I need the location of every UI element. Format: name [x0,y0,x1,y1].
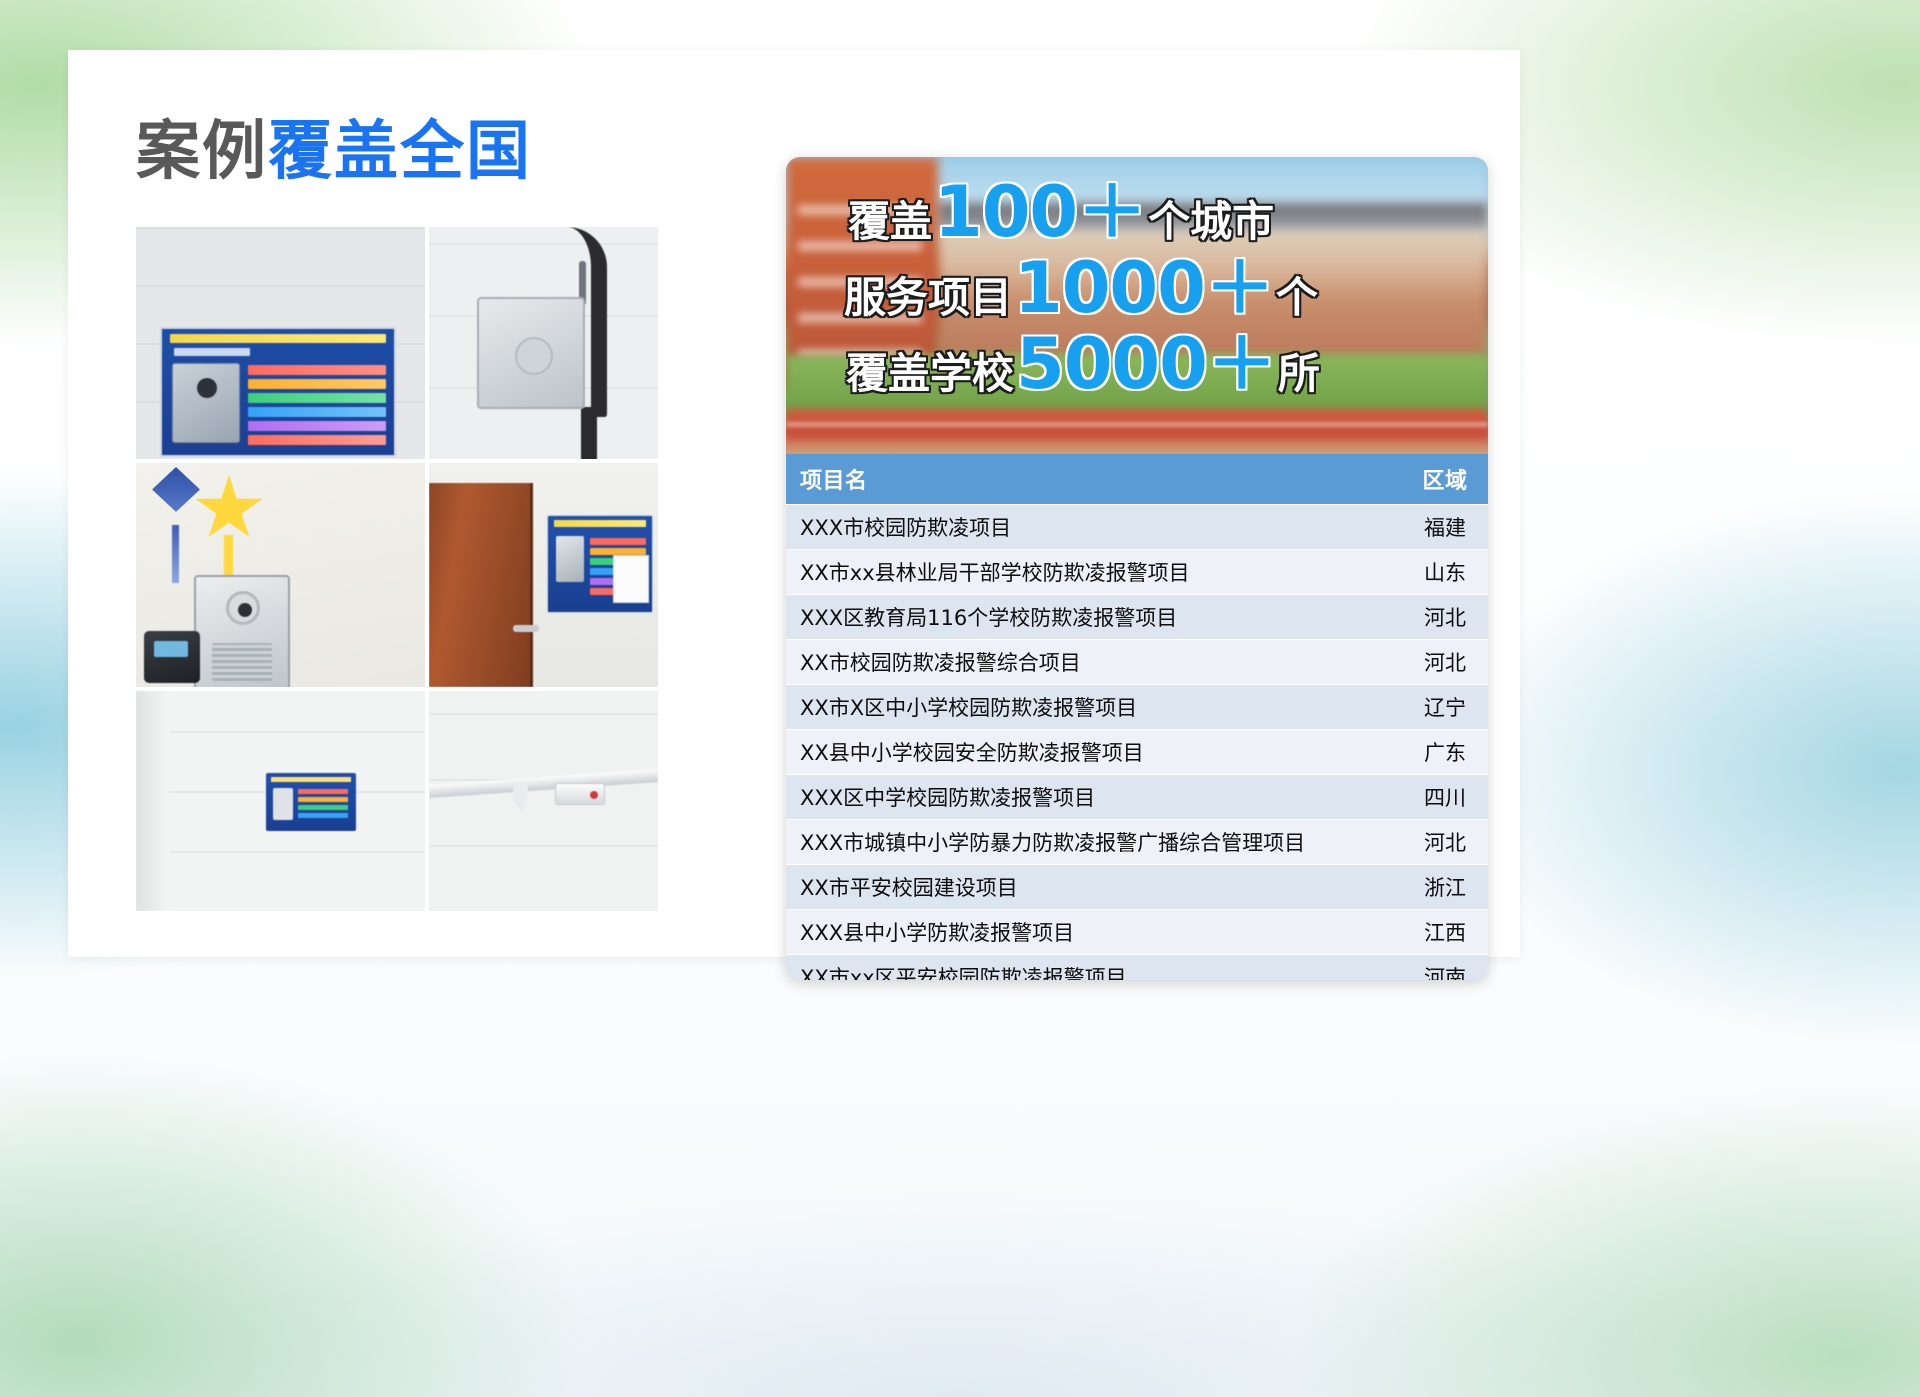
cell-region: 浙江 [1402,865,1488,910]
cell-project-name: XX市校园防欺凌报警综合项目 [786,640,1402,685]
alarm-terminal-icon [194,575,290,687]
stat-schools-number: 5000＋ [1014,327,1278,401]
column-header-region: 区域 [1402,454,1488,505]
cell-project-name: XXX市城镇中小学防暴力防欺凌报警广播综合管理项目 [786,820,1402,865]
corridor-sign-icon [266,773,356,831]
photo-wall-unit-star [136,463,425,687]
cell-region: 福建 [1402,505,1488,550]
photo-door-notice-board [429,463,658,687]
stat-cities-prefix: 覆盖 [848,200,932,245]
page-title: 案例覆盖全国 [136,120,532,184]
stat-line-cities: 覆盖 100＋ 个城市 [848,175,1462,249]
stat-schools-suffix: 所 [1278,352,1320,397]
cell-project-name: XXX县中小学防欺凌报警项目 [786,910,1402,955]
star-icon [194,475,264,543]
cell-region: 河北 [1402,595,1488,640]
photo-wall-box-antenna [429,227,658,459]
coverage-banner: 覆盖 100＋ 个城市 服务项目 1000＋ 个 覆盖学校 5000＋ 所 [786,157,1488,454]
table-header-row: 项目名 区域 [786,454,1488,505]
table-row[interactable]: XX市xx县林业局干部学校防欺凌报警项目山东 [786,550,1488,595]
photo-gallery [136,227,658,907]
slide-card: 案例覆盖全国 [68,50,1520,957]
cell-project-name: XX市平安校园建设项目 [786,865,1402,910]
cell-region: 江西 [1402,910,1488,955]
cell-project-name: XXX区中学校园防欺凌报警项目 [786,775,1402,820]
stat-line-projects: 服务项目 1000＋ 个 [844,251,1462,325]
table-row[interactable]: XXX县中小学防欺凌报警项目江西 [786,910,1488,955]
cell-region: 河南 [1402,955,1488,981]
projects-table-body: XXX市校园防欺凌项目福建 XX市xx县林业局干部学校防欺凌报警项目山东 XXX… [786,505,1488,981]
cell-project-name: XX市xx区平安校园防欺凌报警项目 [786,955,1402,981]
table-row[interactable]: XX市X区中小学校园防欺凌报警项目辽宁 [786,685,1488,730]
page-title-blue: 覆盖全国 [268,115,532,189]
stat-projects-prefix: 服务项目 [844,276,1012,321]
photo-wall-sign-board [136,227,425,459]
tassel-icon [152,467,200,533]
pipe-icon [429,769,658,798]
table-row[interactable]: XX县中小学校园安全防欺凌报警项目广东 [786,730,1488,775]
ceiling-device-icon [555,783,605,805]
stat-cities-suffix: 个城市 [1148,200,1274,245]
cell-project-name: XX市xx县林业局干部学校防欺凌报警项目 [786,550,1402,595]
table-row[interactable]: XX市平安校园建设项目浙江 [786,865,1488,910]
door-icon [429,483,533,687]
table-row[interactable]: XXX区中学校园防欺凌报警项目四川 [786,775,1488,820]
stat-projects-suffix: 个 [1276,276,1318,321]
cell-project-name: XX市X区中小学校园防欺凌报警项目 [786,685,1402,730]
table-row[interactable]: XXX区教育局116个学校防欺凌报警项目河北 [786,595,1488,640]
photo-ceiling-pipe-device [429,691,658,911]
photo-corridor-sign [136,691,425,911]
cell-project-name: XXX市校园防欺凌项目 [786,505,1402,550]
door-handle-icon [513,625,539,632]
anti-bullying-board-icon [160,327,396,457]
cell-project-name: XX县中小学校园安全防欺凌报警项目 [786,730,1402,775]
paper-notice-icon [613,555,649,603]
cell-region: 山东 [1402,550,1488,595]
cell-region: 辽宁 [1402,685,1488,730]
cell-region: 四川 [1402,775,1488,820]
page-title-dark: 案例 [136,115,268,189]
table-row[interactable]: XXX市城镇中小学防暴力防欺凌报警广播综合管理项目河北 [786,820,1488,865]
cell-region: 广东 [1402,730,1488,775]
coverage-stats: 覆盖 100＋ 个城市 服务项目 1000＋ 个 覆盖学校 5000＋ 所 [786,157,1488,454]
projects-table: 项目名 区域 XXX市校园防欺凌项目福建 XX市xx县林业局干部学校防欺凌报警项… [786,454,1488,980]
stat-line-schools: 覆盖学校 5000＋ 所 [846,327,1462,401]
wall-device-box-icon [477,297,585,409]
table-row[interactable]: XXX市校园防欺凌项目福建 [786,505,1488,550]
table-row[interactable]: XX市xx区平安校园防欺凌报警项目河南 [786,955,1488,981]
fingerprint-reader-icon [144,631,200,683]
cell-region: 河北 [1402,820,1488,865]
stat-schools-prefix: 覆盖学校 [846,352,1014,397]
table-row[interactable]: XX市校园防欺凌报警综合项目河北 [786,640,1488,685]
cell-project-name: XXX区教育局116个学校防欺凌报警项目 [786,595,1402,640]
cell-region: 河北 [1402,640,1488,685]
stat-cities-number: 100＋ [932,175,1148,249]
stats-and-projects-card: 覆盖 100＋ 个城市 服务项目 1000＋ 个 覆盖学校 5000＋ 所 [786,157,1488,980]
column-header-project-name: 项目名 [786,454,1402,505]
stat-projects-number: 1000＋ [1012,251,1276,325]
